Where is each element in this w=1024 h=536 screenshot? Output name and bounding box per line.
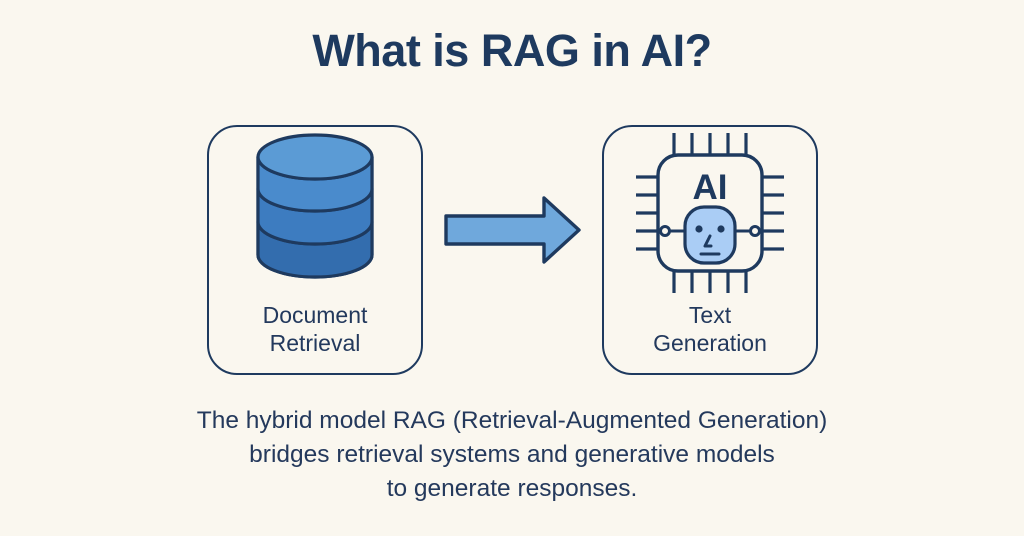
page-title: What is RAG in AI? [0,26,1024,76]
database-cylinder-icon [209,127,421,303]
ai-chip-robot-icon: AI [604,127,816,303]
card-label-text-generation: Text Generation [604,301,816,357]
card-document-retrieval: Document Retrieval [207,125,423,375]
card-label-document-retrieval: Document Retrieval [209,301,421,357]
svg-text:AI: AI [693,168,728,207]
rag-infographic: What is RAG in AI? Document Retriev [0,0,1024,536]
flow-arrow-icon [440,192,585,268]
caption-text: The hybrid model RAG (Retrieval-Augmente… [112,404,912,505]
card-text-generation: AI Text Generation [602,125,818,375]
